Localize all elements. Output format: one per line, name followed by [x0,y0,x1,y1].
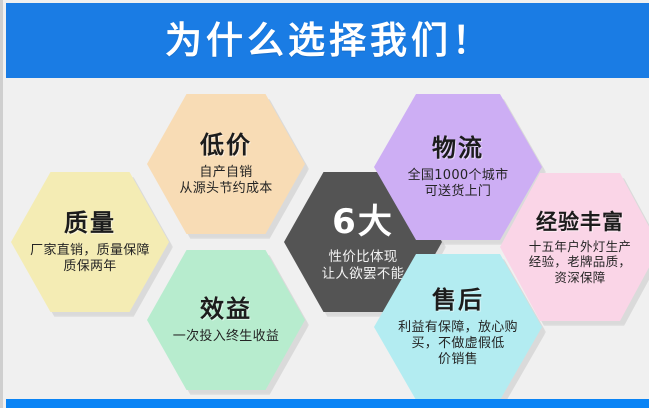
hexagon-logistics-title: 物流 [432,134,484,164]
hexagon-experience-line-3: 资深保障 [529,270,631,286]
hexagon-benefit-body: 一次投入终生收益 [173,329,279,345]
hexagon-experience-line-1: 十五年户外灯生产 [529,239,631,255]
hexagon-center-body: 性价比体现 让人欲罢不能 [322,249,405,282]
hexagon-low-price-body: 自产自销 从源头节约成本 [179,165,272,197]
hexagon-low-price-line-2: 从源头节约成本 [179,181,272,197]
hexagon-logistics-line-2: 可送货上门 [408,184,509,200]
hexagon-experience-body: 十五年户外灯生产 经验，老牌品质， 资深保障 [529,239,631,286]
header-banner: 为什么选择我们！ [6,3,649,78]
hexagon-center-title: 6大 [332,201,394,243]
hexagon-low-price-line-1: 自产自销 [179,165,272,181]
hexagon-center-line-2: 让人欲罢不能 [322,266,405,283]
hexagon-low-price-title: 低价 [200,131,252,161]
hexagon-center-line-1: 性价比体现 [322,249,405,266]
hexagon-after-sales-title: 售后 [432,286,484,316]
hexagon-after-sales-line-1: 利益有保障，放心购 [398,320,518,336]
hexagon-after-sales-line-3: 价销售 [398,352,518,368]
hexagon-cluster: 质量 厂家直销，质量保障 质保两年 低价 自产自销 从源头节约成本 效益 一次投… [3,78,649,400]
hexagon-experience-line-2: 经验，老牌品质， [529,254,631,270]
hexagon-benefit-line-1: 一次投入终生收益 [173,329,279,345]
hexagon-quality-line-1: 厂家直销，质量保障 [30,243,150,259]
hexagon-quality-body: 厂家直销，质量保障 质保两年 [30,243,150,275]
promo-graphic-page: 为什么选择我们！ 质量 厂家直销，质量保障 质保两年 低价 自产自销 从源头节约… [0,0,649,408]
footer-accent-bar [6,399,649,408]
hexagon-after-sales-line-2: 买，不做虚假低 [398,336,518,352]
hexagon-logistics-line-1: 全国1000个城市 [408,168,509,184]
hexagon-after-sales-body: 利益有保障，放心购 买，不做虚假低 价销售 [398,320,518,368]
hexagon-quality-line-2: 质保两年 [30,259,150,275]
hexagon-quality-title: 质量 [64,209,116,239]
hexagon-logistics-body: 全国1000个城市 可送货上门 [408,168,509,200]
hexagon-experience-title: 经验丰富 [536,209,624,235]
hexagon-benefit-title: 效益 [200,295,252,325]
page-title: 为什么选择我们！ [165,22,493,59]
